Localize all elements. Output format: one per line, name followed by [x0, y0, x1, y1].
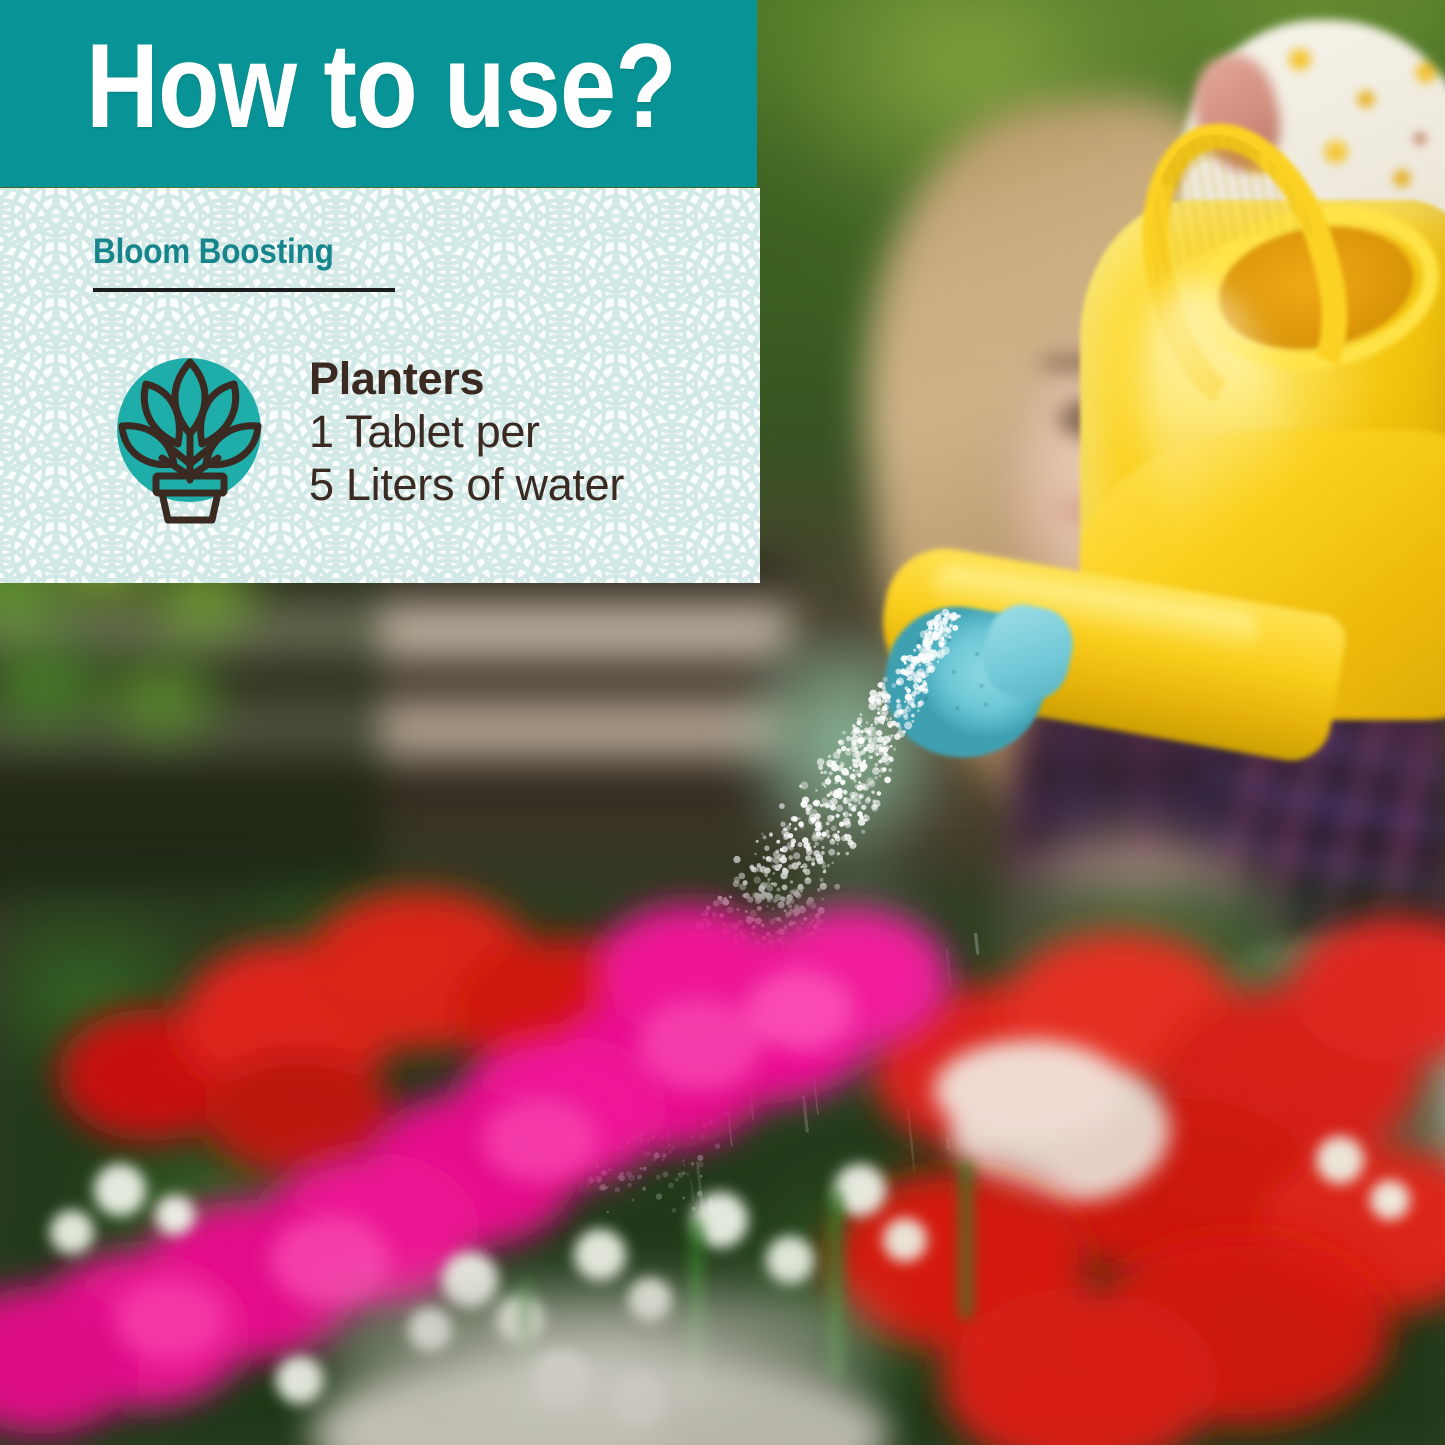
product-infographic-page: How to use?: [0, 0, 1445, 1445]
foreground-bokeh: [320, 1290, 880, 1445]
header-banner: How to use?: [0, 0, 757, 187]
dosage-heading: Planters: [309, 352, 749, 405]
potted-plant-icon: [112, 348, 268, 524]
card-kicker: Bloom Boosting: [93, 232, 334, 272]
dosage-instructions: Planters 1 Tablet per 5 Liters of water: [309, 352, 749, 511]
dosage-line-1: 1 Tablet per: [309, 405, 749, 458]
card-divider: [93, 288, 395, 292]
dosage-line-2: 5 Liters of water: [309, 458, 749, 511]
left-foliage-blur: [0, 540, 380, 900]
page-title: How to use?: [86, 16, 676, 158]
